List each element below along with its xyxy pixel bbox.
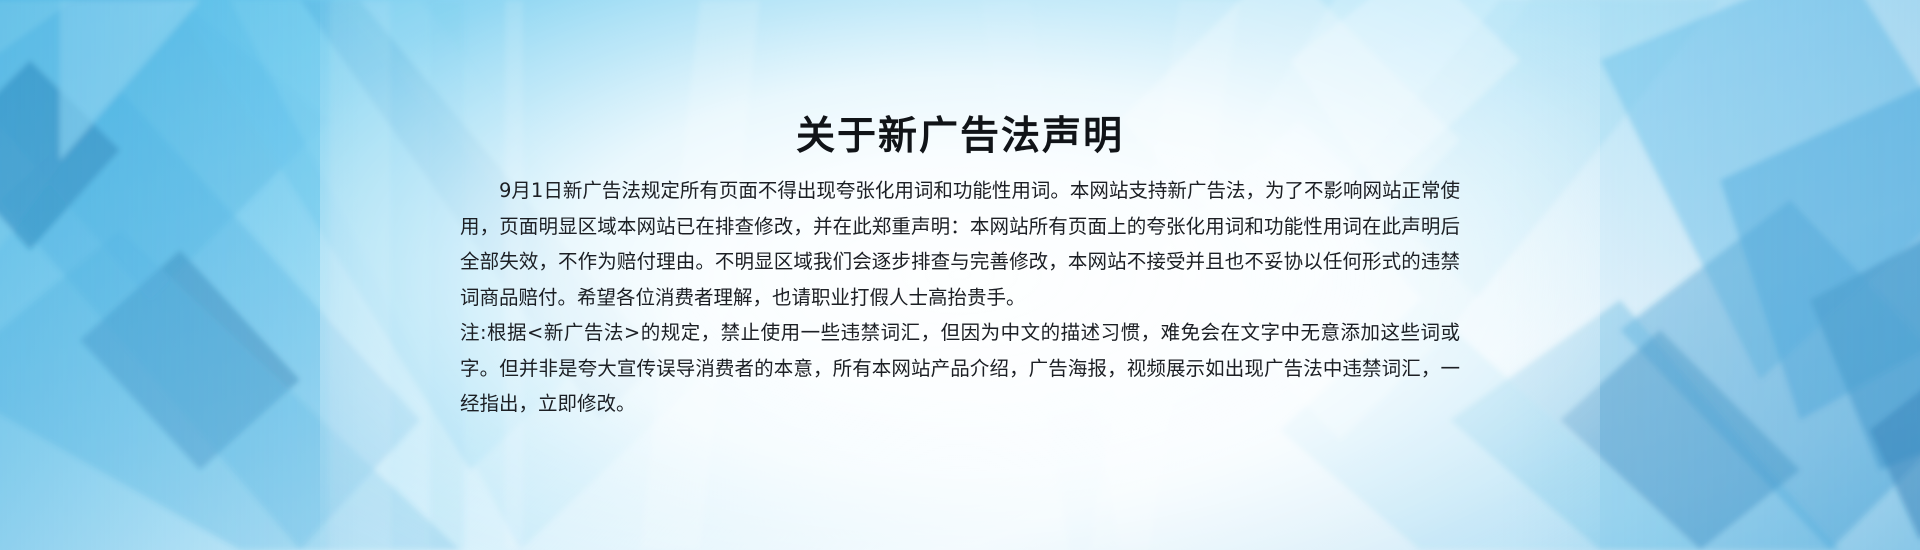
- advertising-law-statement-banner: 关于新广告法声明 9月1日新广告法规定所有页面不得出现夸张化用词和功能性用词。本…: [0, 0, 1920, 550]
- banner-content: 关于新广告法声明 9月1日新广告法规定所有页面不得出现夸张化用词和功能性用词。本…: [0, 0, 1920, 550]
- statement-body: 9月1日新广告法规定所有页面不得出现夸张化用词和功能性用词。本网站支持新广告法，…: [460, 173, 1460, 422]
- statement-paragraph-1: 9月1日新广告法规定所有页面不得出现夸张化用词和功能性用词。本网站支持新广告法，…: [460, 173, 1460, 315]
- statement-paragraph-2: 注:根据<新广告法>的规定，禁止使用一些违禁词汇，但因为中文的描述习惯，难免会在…: [460, 315, 1460, 422]
- page-title: 关于新广告法声明: [0, 114, 1920, 161]
